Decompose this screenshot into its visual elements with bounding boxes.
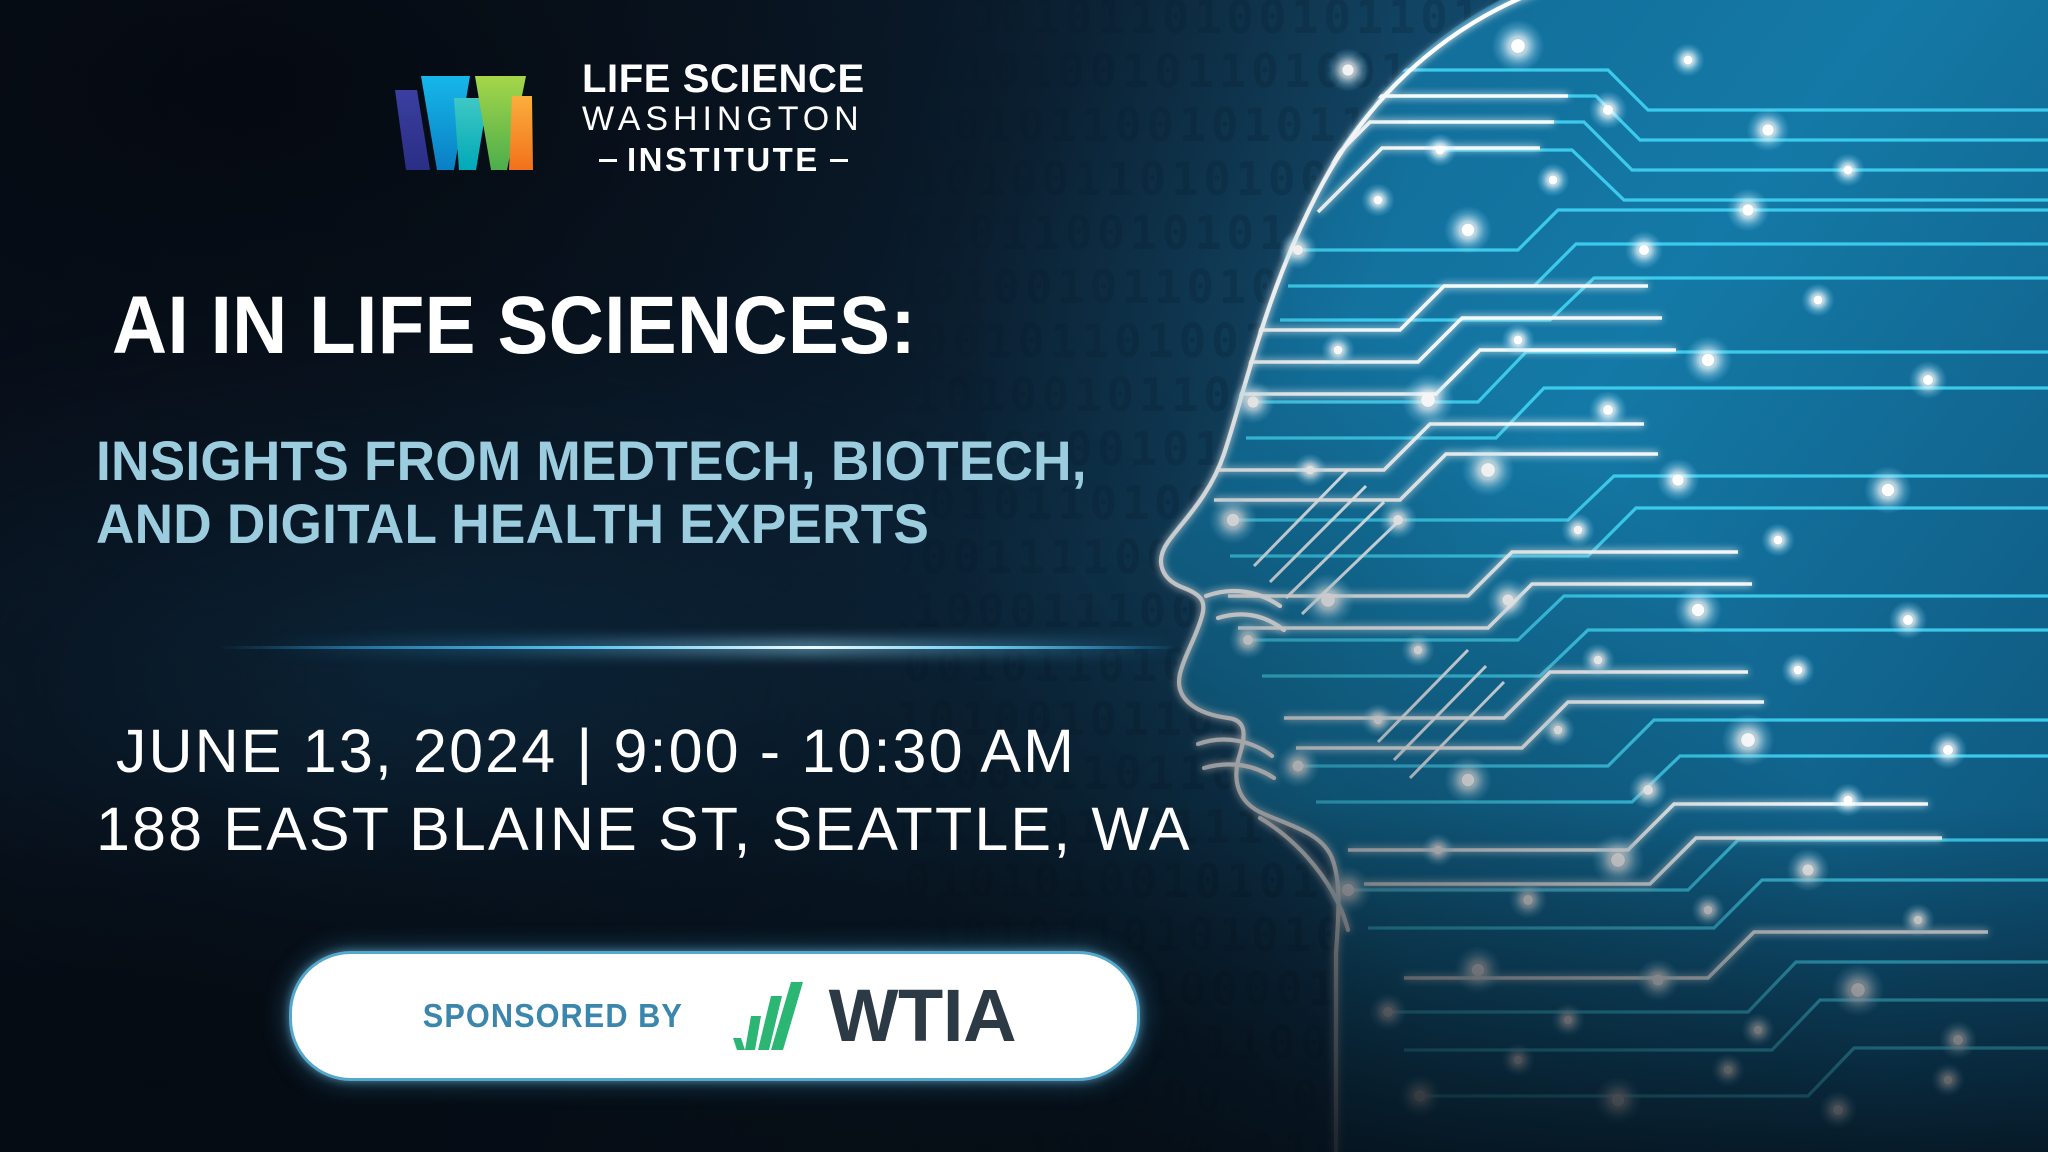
glow-divider xyxy=(218,645,1178,650)
logo-wordmark: LIFE SCIENCE WASHINGTON INSTITUTE xyxy=(582,59,865,178)
subtitle-line-2: AND DIGITAL HEALTH EXPERTS xyxy=(96,493,989,556)
page-subtitle: INSIGHTS FROM MEDTECH, BIOTECH, AND DIGI… xyxy=(96,430,1036,555)
logo-line-2: WASHINGTON xyxy=(582,99,864,140)
logo-dash-left xyxy=(599,159,617,162)
page-title: AI IN LIFE SCIENCES: xyxy=(112,285,996,367)
wtia-wordmark: WTIA xyxy=(829,983,1017,1050)
sponsored-by-label: SPONSORED BY xyxy=(423,997,683,1035)
wtia-bars-icon xyxy=(729,980,821,1052)
event-address: 188 EAST BLAINE ST, SEATTLE, WA xyxy=(96,790,1096,868)
logo-line-3-text: INSTITUTE xyxy=(627,143,820,178)
wtia-logo: WTIA xyxy=(729,980,1017,1052)
event-poster: 1010010110100101101010100101101001011010… xyxy=(0,0,2048,1152)
logo-line-3: INSTITUTE xyxy=(582,143,865,178)
lsw-w-mark-icon xyxy=(392,58,560,178)
logo-dash-right xyxy=(830,159,848,162)
sponsor-badge[interactable]: SPONSORED BY WTIA xyxy=(289,951,1140,1081)
subtitle-line-1: INSIGHTS FROM MEDTECH, BIOTECH, xyxy=(96,430,989,493)
event-datetime: JUNE 13, 2024 | 9:00 - 10:30 AM xyxy=(96,712,1096,790)
content-column: LIFE SCIENCE WASHINGTON INSTITUTE AI IN … xyxy=(0,0,1110,1152)
organization-logo[interactable]: LIFE SCIENCE WASHINGTON INSTITUTE xyxy=(392,58,865,178)
divider-line xyxy=(218,646,1178,649)
event-details: JUNE 13, 2024 | 9:00 - 10:30 AM 188 EAST… xyxy=(96,712,1096,868)
logo-line-1: LIFE SCIENCE xyxy=(582,59,865,100)
